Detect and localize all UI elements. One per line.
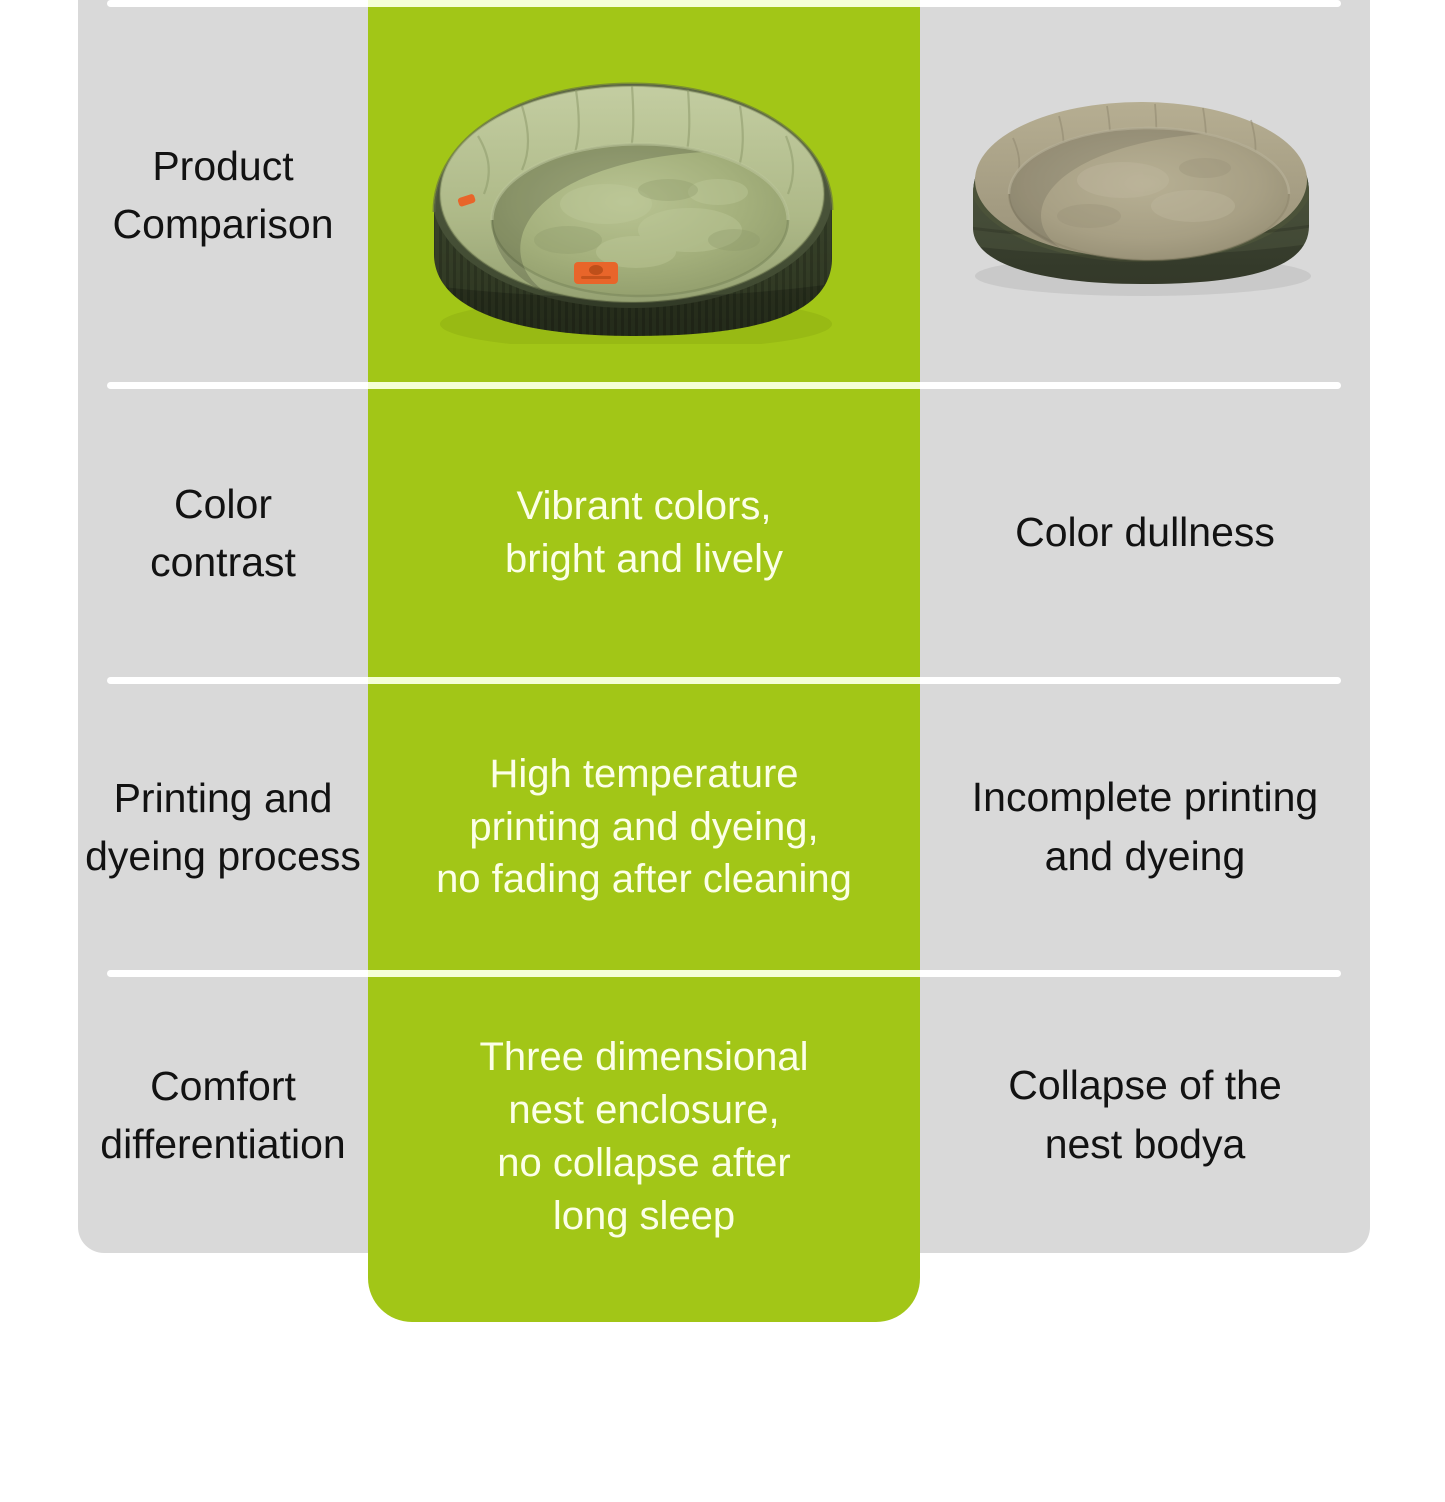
bad-value-text: Color dullness bbox=[1015, 503, 1275, 562]
row-label-comfort-differentiation: Comfort differentiation bbox=[78, 977, 368, 1253]
bad-value-text: Collapse of the nest bodya bbox=[1008, 1056, 1282, 1175]
row-label-text: Color contrast bbox=[150, 475, 296, 591]
row-divider-green-segment bbox=[368, 677, 920, 684]
row-divider-green-segment bbox=[368, 382, 920, 389]
row-label-text: Printing and dyeing process bbox=[85, 769, 361, 885]
good-value-text: Vibrant colors, bright and lively bbox=[505, 480, 783, 586]
row-divider-green-segment bbox=[368, 970, 920, 977]
row-label-text: Comfort differentiation bbox=[100, 1057, 345, 1173]
row-label-color-contrast: Color contrast bbox=[78, 389, 368, 677]
good-value-printing-dyeing: High temperature printing and dyeing, no… bbox=[368, 684, 920, 970]
good-value-text: Three dimensional nest enclosure, no col… bbox=[479, 1031, 808, 1242]
bad-value-color-contrast: Color dullness bbox=[920, 389, 1370, 677]
comparison-infographic: Product Comparison bbox=[0, 0, 1445, 1502]
row-label-printing-dyeing: Printing and dyeing process bbox=[78, 684, 368, 970]
good-value-comfort-differentiation: Three dimensional nest enclosure, no col… bbox=[368, 977, 920, 1297]
row-label-text: Product Comparison bbox=[112, 137, 333, 253]
row-divider-green-segment bbox=[368, 0, 920, 7]
bad-value-text: Incomplete printing and dyeing bbox=[972, 768, 1318, 887]
bad-value-comfort-differentiation: Collapse of the nest bodya bbox=[920, 977, 1370, 1253]
good-value-text: High temperature printing and dyeing, no… bbox=[436, 748, 852, 906]
good-value-color-contrast: Vibrant colors, bright and lively bbox=[368, 389, 920, 677]
row-label-product-comparison: Product Comparison bbox=[78, 8, 368, 382]
bad-value-printing-dyeing: Incomplete printing and dyeing bbox=[920, 684, 1370, 970]
